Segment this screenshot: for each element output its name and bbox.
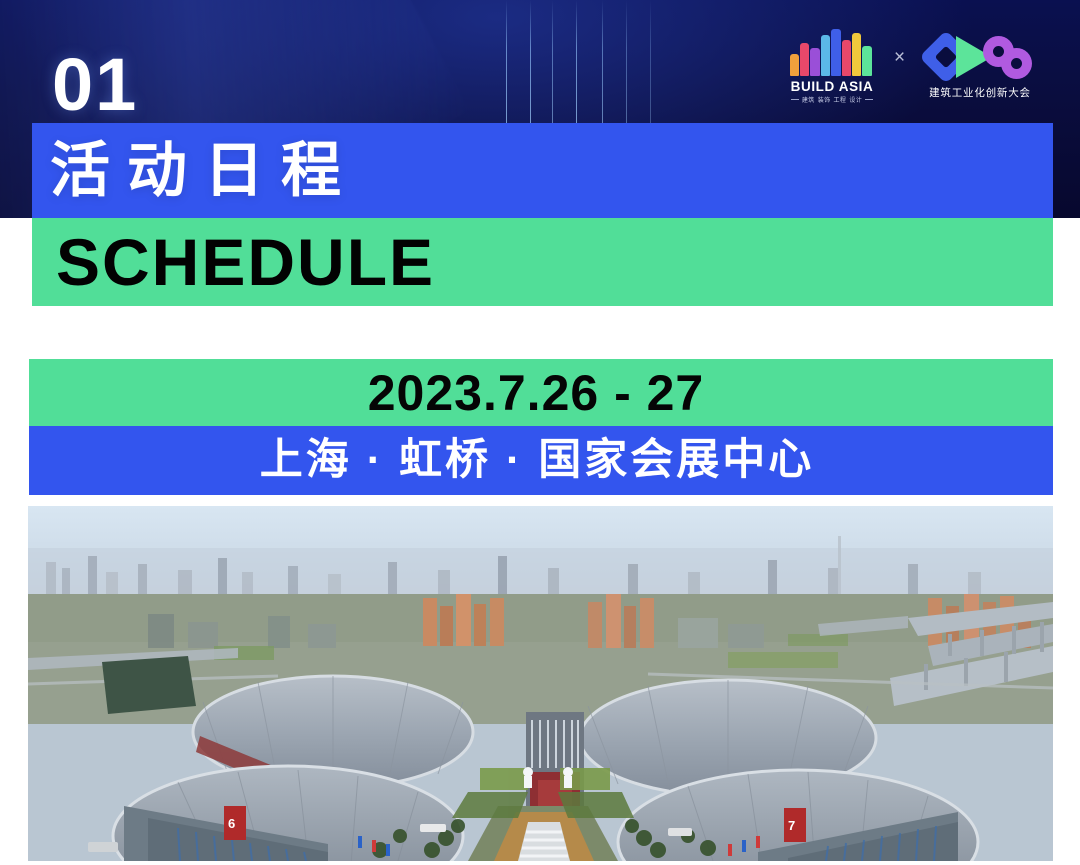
build-asia-subtitle: 建筑 装饰 工程 设计: [791, 95, 873, 104]
event-date: 2023.7.26 - 27: [368, 368, 705, 418]
section-number: 01: [52, 48, 138, 122]
venue-photo: 6 7: [28, 506, 1053, 861]
svg-text:7: 7: [788, 818, 795, 833]
build-asia-buildings-icon: [790, 28, 874, 76]
conference-logo: 建筑工业化创新大会: [925, 33, 1035, 100]
title-english: SCHEDULE: [56, 229, 435, 295]
multiply-x-icon: ×: [894, 47, 905, 69]
date-bar: 2023.7.26 - 27: [29, 359, 1053, 426]
title-bar-english: SCHEDULE: [32, 218, 1053, 306]
venue-bar: 上海 · 虹桥 · 国家会展中心: [29, 426, 1053, 495]
build-asia-logo: BUILD ASIA 建筑 装饰 工程 设计: [790, 28, 874, 104]
event-venue: 上海 · 虹桥 · 国家会展中心: [260, 439, 814, 482]
title-chinese: 活动日程: [50, 141, 358, 201]
dash-left-icon: [791, 99, 799, 100]
build-asia-subtitle-1: 建筑: [802, 95, 815, 104]
build-asia-subtitle-4: 设计: [849, 95, 862, 104]
schedule-poster: 01 BUILD ASIA 建筑 装饰 工程 设计: [0, 0, 1080, 865]
logo-lockup: BUILD ASIA 建筑 装饰 工程 设计 × 建筑工业化创新大会: [790, 22, 1035, 110]
ring-shape-b-icon: [1001, 48, 1032, 79]
conference-wordmark: 建筑工业化创新大会: [929, 85, 1031, 100]
build-asia-wordmark: BUILD ASIA: [791, 79, 874, 94]
build-asia-subtitle-2: 装饰: [818, 95, 831, 104]
build-asia-subtitle-3: 工程: [834, 95, 847, 104]
conference-abstract-icon: [925, 33, 1035, 81]
dash-right-icon: [865, 99, 873, 100]
title-bar-chinese: 活动日程: [32, 123, 1053, 218]
svg-text:6: 6: [228, 816, 235, 831]
venue-photo-illustration: 6 7: [28, 506, 1053, 861]
